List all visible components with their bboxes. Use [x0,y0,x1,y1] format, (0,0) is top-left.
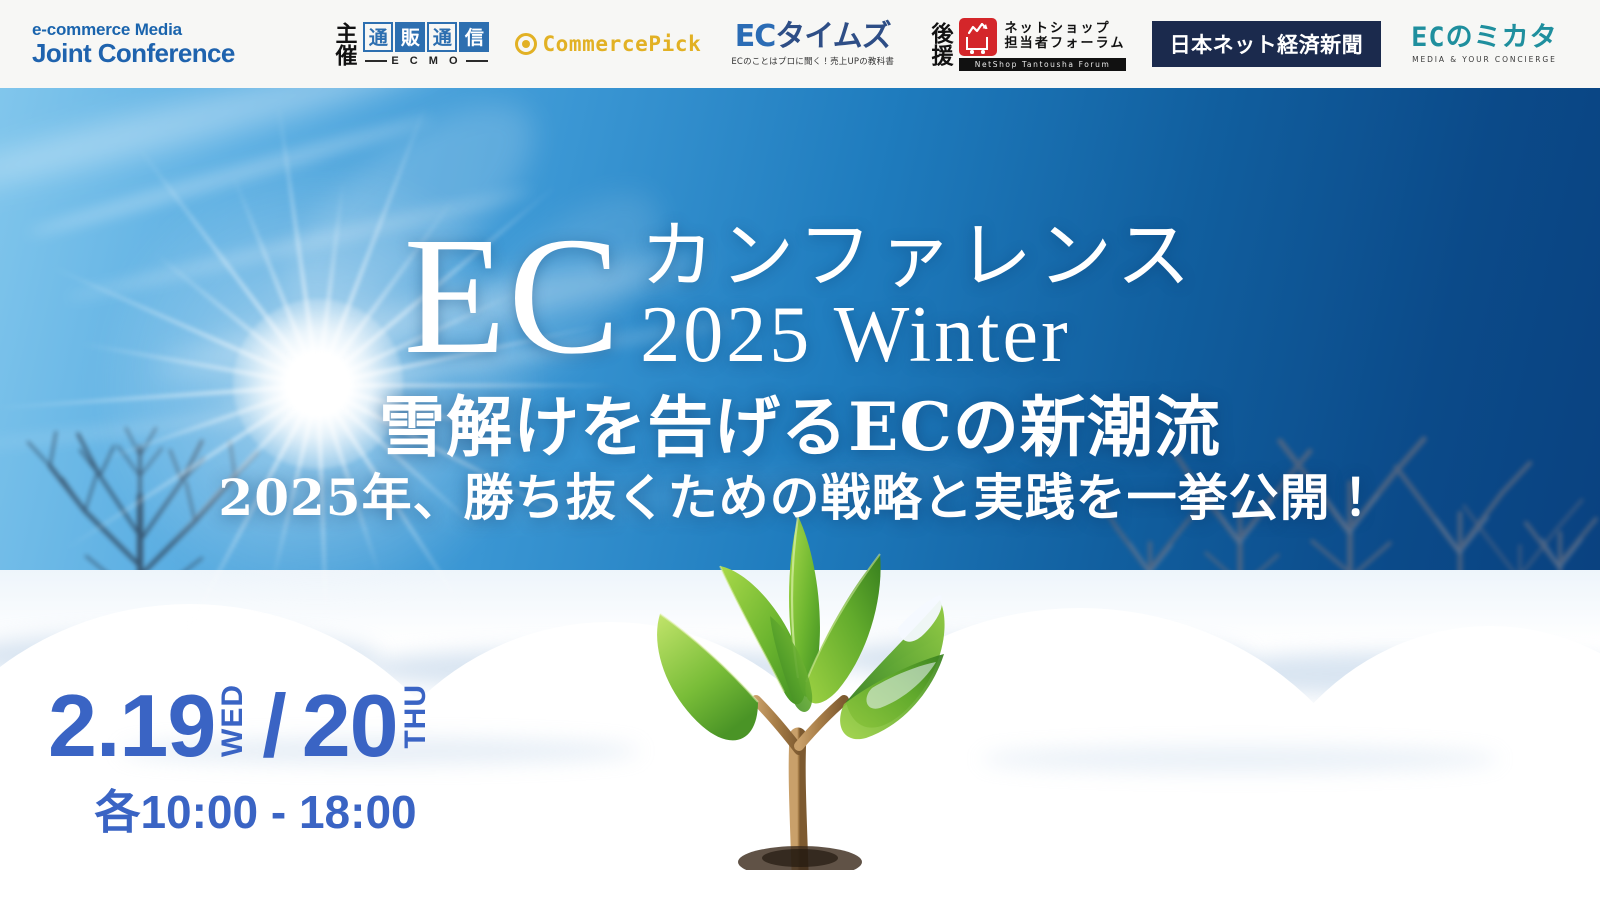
hero-subtitle-2: 2025年、勝ち抜くための戦略と実践を一挙公開！ [0,469,1600,527]
cart-body [966,37,988,50]
support-label: 後援 [928,18,950,70]
cart-chart-icon [959,18,997,56]
ecmo-subtitle: E C M O [363,55,489,67]
date-separator: / [262,682,285,770]
ecmo-rule-left [365,60,387,62]
brand-line-2: Joint Conference [32,39,332,68]
netshop-romaji: NetShop Tantousha Forum [959,58,1125,71]
mikata-tagline: MEDIA & YOUR CONCIERGE [1412,55,1557,64]
netshop-top-row: ネットショップ 担当者フォーラム [959,18,1125,56]
date-dow-1: WED [218,684,248,757]
logo-ectimes[interactable]: ECタイムズ ECのことはプロに聞く！売上UPの教科書 [731,22,894,67]
logo-netshop-forum[interactable]: ネットショップ 担当者フォーラム NetShop Tantousha Forum [959,18,1125,71]
tsuhan-char-0: 通 [363,22,393,52]
event-date-block: 2.19 WED / 20 THU 各10:00 - 18:00 [48,682,431,842]
circle-c-icon [515,33,537,55]
netshop-line-1: ネットショップ [1004,22,1125,37]
event-time: 各10:00 - 18:00 [48,776,431,842]
logo-strip: 主催 通 販 通 信 E C M O [332,0,1600,88]
mikata-wordmark: ECのミカタ [1411,24,1558,51]
commercepick-label: CommercePick [542,32,701,56]
host-logo-group: 主催 通 販 通 信 E C M O [332,18,489,70]
title-right-column: カンファレンス 2025 Winter [640,196,1196,377]
support-logo-group: 後援 ネットショップ [928,18,1126,71]
ectimes-kana: タイムズ [775,19,890,54]
sponsor-logo-bar: e-commerce Media Joint Conference 主催 通 販… [0,0,1600,88]
ectimes-ec: EC [735,19,776,54]
hero-title-block: EC カンファレンス 2025 Winter 雪解けを告げるECの新潮流 202… [0,196,1600,527]
ecmo-rule-right [466,60,488,62]
poster-root: e-commerce Media Joint Conference 主催 通 販… [0,0,1600,900]
cart-wheel-left [970,50,974,54]
tsuhan-kanji-row: 通 販 通 信 [363,22,489,52]
hero-subtitle-1: 雪解けを告げるECの新潮流 [0,391,1600,465]
host-label: 主催 [332,18,354,70]
title-kana: カンファレンス [640,218,1196,295]
event-dates: 2.19 WED / 20 THU [48,682,431,770]
title-ec: EC [404,216,623,377]
tsuhan-char-3: 信 [459,22,489,52]
date-day-2: 20 [302,682,398,770]
ectimes-wordmark: ECタイムズ [735,22,891,52]
date-dow-2: THU [401,684,431,749]
hero-banner: EC カンファレンス 2025 Winter 雪解けを告げるECの新潮流 202… [0,88,1600,900]
logo-ec-mikata[interactable]: ECのミカタ MEDIA & YOUR CONCIERGE [1411,24,1558,64]
cart-wheel-right [981,50,985,54]
logo-tsuhan-tsushin[interactable]: 通 販 通 信 E C M O [363,22,489,67]
logo-nihon-net-keizai[interactable]: 日本ネット経済新聞 [1152,21,1382,67]
ectimes-tagline: ECのことはプロに聞く！売上UPの教科書 [731,55,894,67]
brand-line-1: e-commerce Media [32,20,332,39]
title-year: 2025 Winter [640,293,1070,377]
snow-shadow [980,746,1500,772]
tsuhan-char-2: 通 [427,22,457,52]
logo-commercepick[interactable]: CommercePick [515,32,701,56]
tsuhan-char-1: 販 [395,22,425,52]
netshop-line-2: 担当者フォーラム [1004,37,1125,52]
netshop-text: ネットショップ 担当者フォーラム [1004,22,1125,51]
title-row-main: EC カンファレンス 2025 Winter [0,196,1600,377]
event-brand: e-commerce Media Joint Conference [32,20,332,68]
date-day-1: 2.19 [48,682,215,770]
ecmo-text: E C M O [391,55,461,67]
